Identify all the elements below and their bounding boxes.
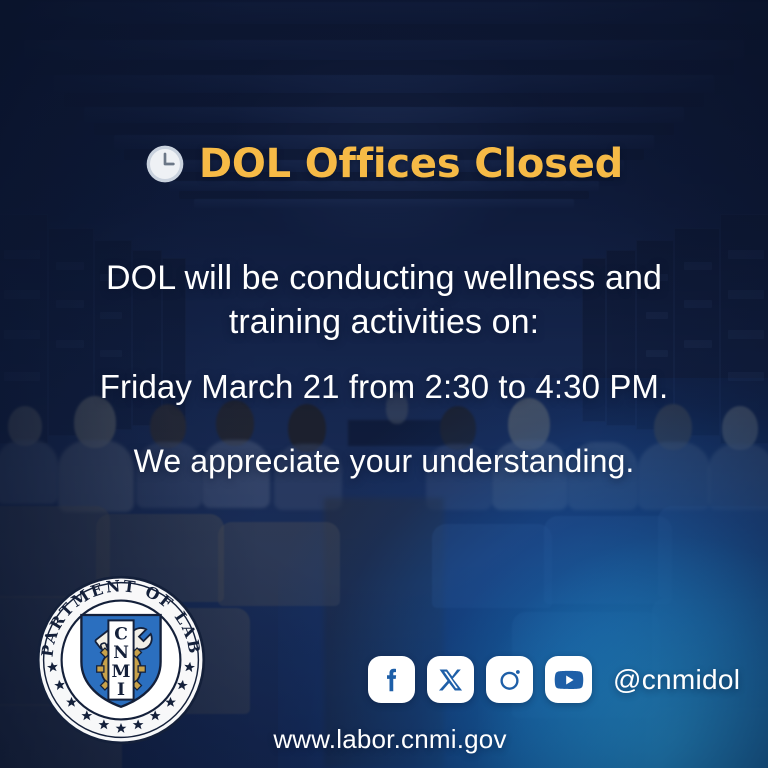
x-twitter-icon bbox=[437, 666, 465, 694]
paragraph-datetime: Friday March 21 from 2:30 to 4:30 PM. bbox=[0, 368, 768, 406]
instagram-link[interactable] bbox=[486, 656, 533, 703]
dol-seal-logo: DEPARTMENT OF LABOR bbox=[31, 570, 211, 750]
social-handle: @cnmidol bbox=[613, 664, 740, 696]
clock-icon bbox=[145, 144, 185, 184]
x-twitter-link[interactable] bbox=[427, 656, 474, 703]
paragraph-wellness: DOL will be conducting wellness and trai… bbox=[0, 256, 768, 344]
seal-letter-m: M bbox=[112, 662, 131, 682]
poster-content: DOL Offices Closed DOL will be conductin… bbox=[0, 0, 768, 768]
social-links-row: @cnmidol bbox=[368, 656, 740, 703]
facebook-icon bbox=[377, 665, 407, 695]
website-url-text: www.labor.cnmi.gov bbox=[261, 724, 506, 754]
dol-announcement-poster: DOL Offices Closed DOL will be conductin… bbox=[0, 0, 768, 768]
paragraph-wellness-line-1: DOL will be conducting wellness and bbox=[0, 256, 768, 300]
youtube-icon bbox=[553, 664, 585, 696]
facebook-link[interactable] bbox=[368, 656, 415, 703]
paragraph-wellness-line-2: training activities on: bbox=[0, 300, 768, 344]
youtube-link[interactable] bbox=[545, 656, 592, 703]
title-row: DOL Offices Closed bbox=[0, 141, 768, 187]
website-url[interactable]: www.labor.cnmi.gov bbox=[0, 724, 768, 755]
seal-letter-c: C bbox=[114, 624, 128, 644]
seal-letter-n: N bbox=[113, 643, 129, 663]
page-title: DOL Offices Closed bbox=[199, 141, 623, 187]
seal-letter-i: I bbox=[117, 680, 125, 700]
paragraph-thanks: We appreciate your understanding. bbox=[0, 443, 768, 480]
instagram-icon bbox=[495, 665, 525, 695]
